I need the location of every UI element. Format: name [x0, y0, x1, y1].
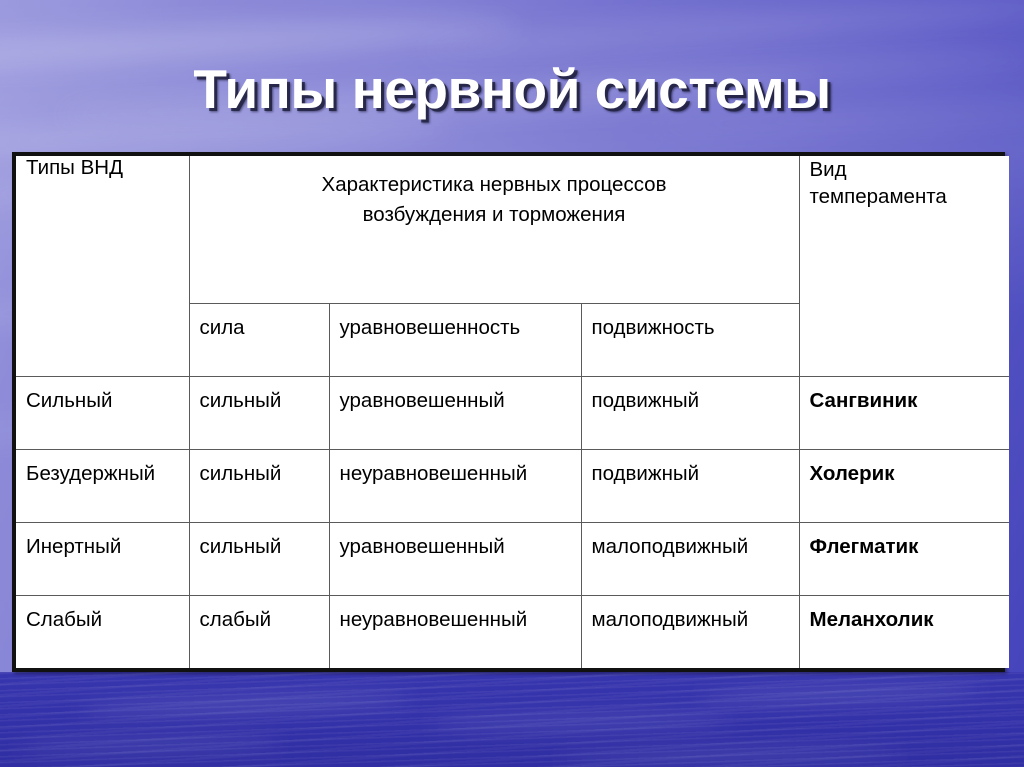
table: Типы ВНД Характеристика нервных процессо… [16, 156, 1009, 668]
header-characteristics-line1: Характеристика нервных процессов [322, 173, 667, 196]
cell-balance: неуравновешенный [329, 596, 581, 668]
cloud-streak-icon [420, 0, 1024, 60]
cell-type: Инертный [16, 523, 189, 596]
cell-temperament: Флегматик [799, 523, 1009, 596]
cloud-streak-icon [0, 121, 460, 151]
slide-canvas: Типы нервной системы Типы ВНД Характерис… [0, 0, 1024, 767]
cell-balance: уравновешенный [329, 523, 581, 596]
table-row: Слабый слабый неуравновешенный малоподви… [16, 596, 1009, 668]
header-temperament-line2: темперамента [810, 185, 947, 208]
header-cell-mobility: подвижность [581, 303, 799, 376]
header-balance-text: уравновешенность [340, 304, 571, 340]
slide-title: Типы нервной системы [0, 58, 1024, 120]
cell-balance: неуравновешенный [329, 450, 581, 523]
cell-type: Безудержный [16, 450, 189, 523]
cell-mobility: малоподвижный [581, 523, 799, 596]
header-mobility-text: подвижность [592, 304, 789, 340]
cell-mobility: подвижный [581, 450, 799, 523]
header-cell-characteristics: Характеристика нервных процессов возбужд… [189, 156, 799, 303]
table-row: Безудержный сильный неуравновешенный под… [16, 450, 1009, 523]
header-cell-temperament: Вид темперамента [799, 156, 1009, 376]
cell-strength: сильный [189, 376, 329, 449]
cell-mobility: подвижный [581, 376, 799, 449]
cell-strength: сильный [189, 523, 329, 596]
cell-type: Слабый [16, 596, 189, 668]
header-characteristics-text: Характеристика нервных процессов возбужд… [200, 156, 789, 230]
table-row: Сильный сильный уравновешенный подвижный… [16, 376, 1009, 449]
cell-balance: уравновешенный [329, 376, 581, 449]
header-characteristics-line2: возбуждения и торможения [363, 203, 626, 226]
header-strength-text: сила [200, 304, 319, 340]
header-cell-strength: сила [189, 303, 329, 376]
header-temperament-line1: Вид [810, 158, 847, 181]
cell-temperament: Меланхолик [799, 596, 1009, 668]
cell-temperament: Холерик [799, 450, 1009, 523]
table-header-row-top: Типы ВНД Характеристика нервных процессо… [16, 156, 1009, 303]
table-row: Инертный сильный уравновешенный малоподв… [16, 523, 1009, 596]
cell-strength: сильный [189, 450, 329, 523]
nervous-system-types-table: Типы ВНД Характеристика нервных процессо… [12, 152, 1005, 672]
header-cell-types: Типы ВНД [16, 156, 189, 376]
cell-type: Сильный [16, 376, 189, 449]
header-cell-balance: уравновешенность [329, 303, 581, 376]
cell-mobility: малоподвижный [581, 596, 799, 668]
cell-strength: слабый [189, 596, 329, 668]
cell-temperament: Сангвиник [799, 376, 1009, 449]
